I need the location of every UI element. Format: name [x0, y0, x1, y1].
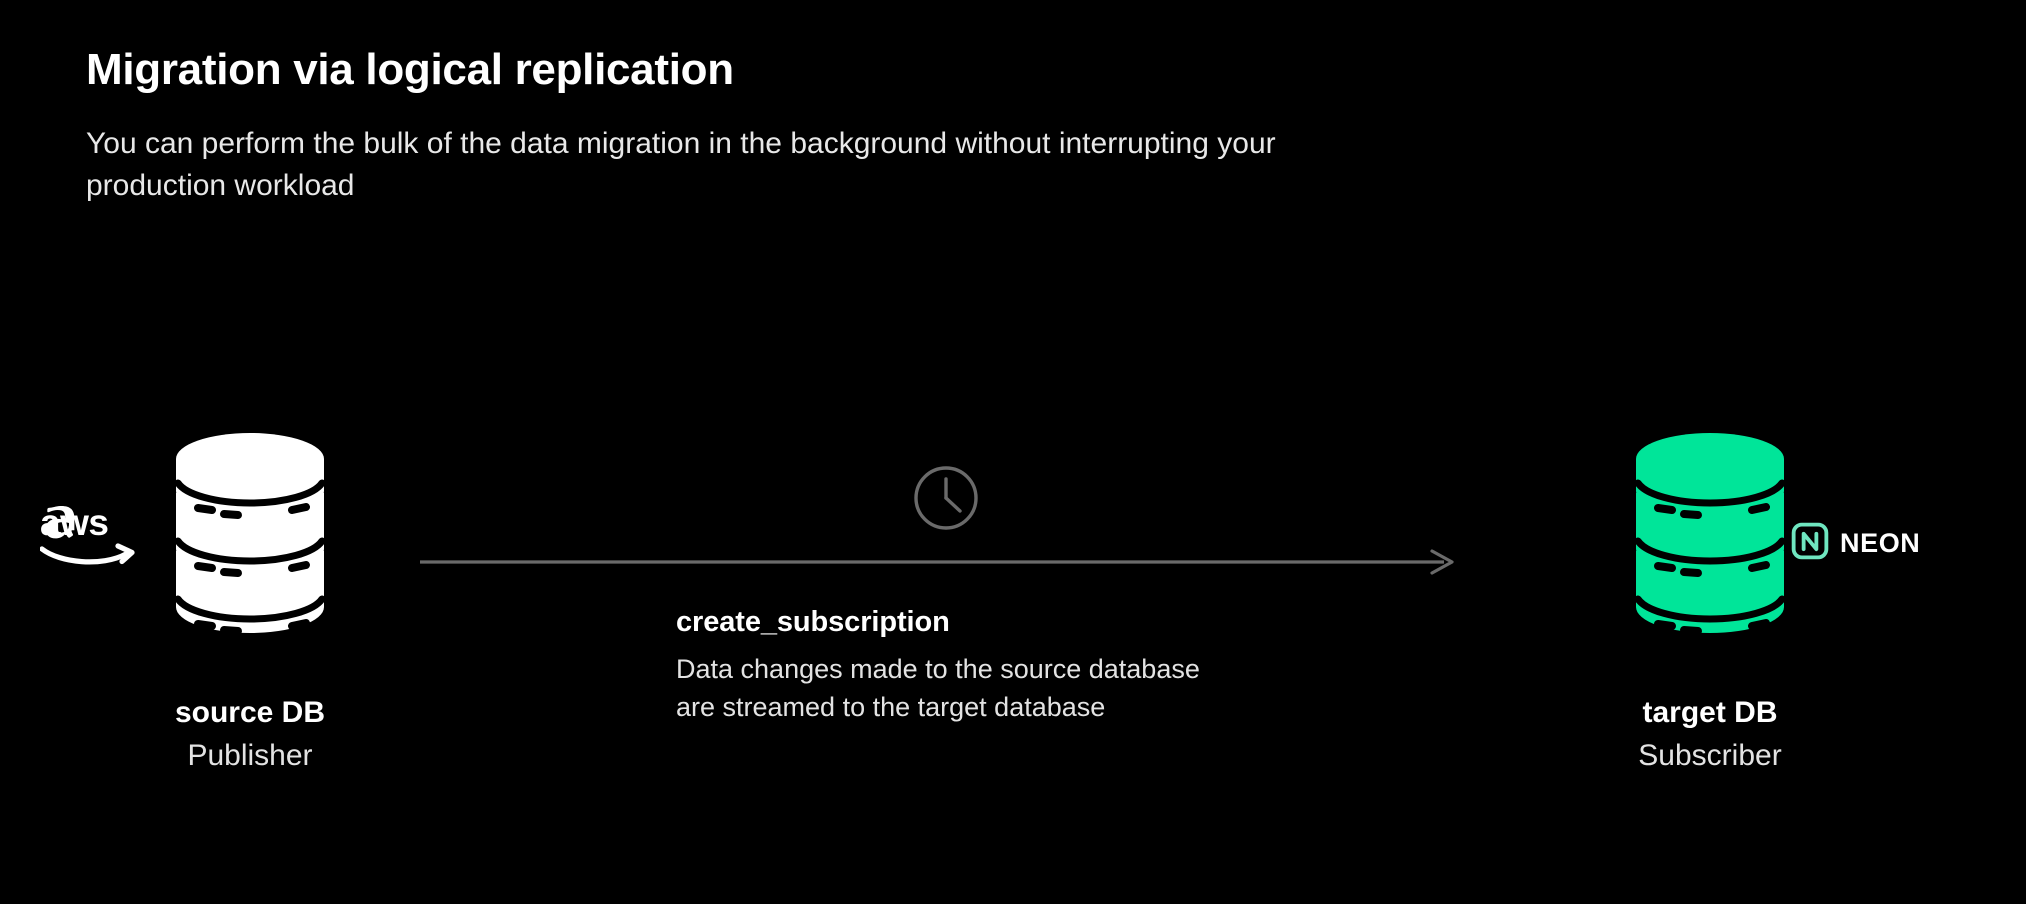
- flow-caption-line-1: Data changes made to the source database: [676, 650, 1376, 688]
- create-subscription-label: create_subscription: [676, 604, 1376, 642]
- target-db-node: NEON target DB Subscriber: [1500, 425, 1920, 775]
- source-db-labels: source DB Publisher: [40, 693, 460, 775]
- target-db-labels: target DB Subscriber: [1500, 693, 1920, 775]
- neon-logo-icon: [1790, 521, 1830, 566]
- flow-caption: create_subscription Data changes made to…: [676, 604, 1376, 726]
- source-db-role: Publisher: [40, 736, 460, 775]
- source-db-node: aws: [40, 425, 460, 775]
- clock-icon: [910, 462, 982, 534]
- neon-wordmark: NEON: [1840, 530, 1920, 557]
- aws-logo-icon: aws: [40, 499, 162, 569]
- neon-brand-lockup: NEON: [1790, 517, 1950, 569]
- flow-caption-line-2: are streamed to the target database: [676, 688, 1376, 726]
- target-db-role: Subscriber: [1500, 736, 1920, 775]
- replication-arrow-icon: [420, 540, 1460, 584]
- slide-canvas: Migration via logical replication You ca…: [0, 0, 2026, 904]
- source-database-cylinder-icon: [174, 431, 326, 669]
- target-db-title: target DB: [1500, 693, 1920, 732]
- target-database-cylinder-icon: [1634, 431, 1786, 669]
- source-db-graphic-row: aws: [40, 425, 460, 675]
- svg-text:aws: aws: [40, 502, 108, 543]
- replication-diagram: aws: [0, 0, 2026, 904]
- target-db-graphic-row: NEON: [1500, 425, 1920, 675]
- source-db-title: source DB: [40, 693, 460, 732]
